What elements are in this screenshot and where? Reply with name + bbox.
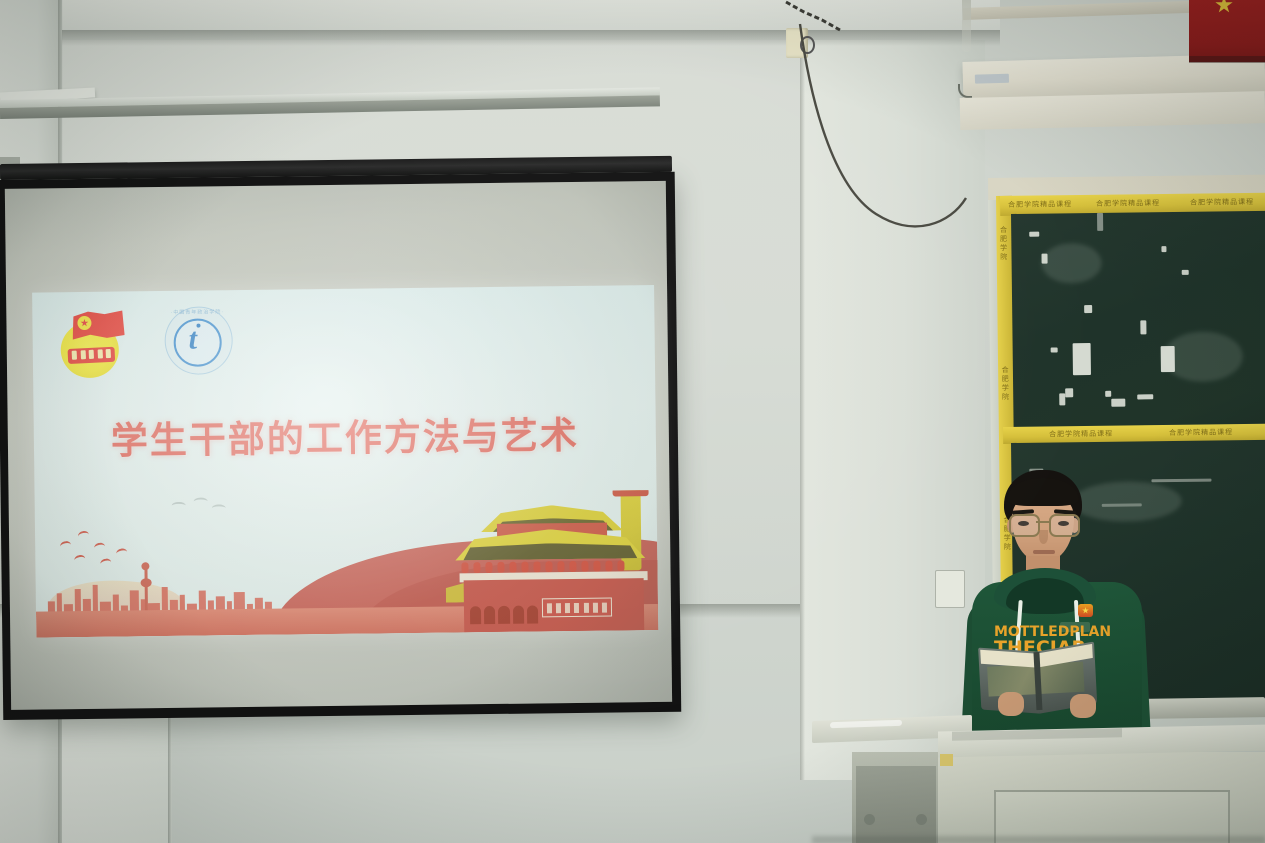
hand-left [998,692,1024,716]
lapel-pin-icon [1078,604,1093,617]
blackboard-side-rail-text: 合肥学院 [998,226,1008,262]
hanging-cable [790,18,980,268]
blackboard-mid-rail-text: 合肥学院精品课程 [1049,429,1113,440]
podium-tape-mark [940,754,953,766]
projection-screen[interactable]: ·中国青年政治学院· t 学生干部的工作方法与艺术 [0,172,681,720]
classroom-scene: ·中国青年政治学院· t 学生干部的工作方法与艺术 [0,0,1265,843]
blackboard-top-rail-text-2: 合肥学院精品课程 [1096,198,1160,209]
wall-stain [962,0,971,52]
slide-title: 学生干部的工作方法与艺术 [34,404,657,466]
flag-star-icon [1215,0,1233,14]
slide-illustration [35,490,659,638]
flag-shadow [1189,56,1265,63]
projected-slide: ·中国青年政治学院· t 学生干部的工作方法与艺术 [32,285,658,638]
valance-sticker [975,74,1009,84]
blackboard-top-rail-text-3: 合肥学院精品课程 [1190,197,1254,208]
seal-letter: t [188,325,197,355]
podium-left-cabinet-inner [856,766,936,843]
nose [1039,530,1048,544]
projection-screen-surface: ·中国青年政治学院· t 学生干部的工作方法与艺术 [5,181,672,710]
blackboard-mid-rail-text-2: 合肥学院精品课程 [1169,427,1233,438]
cabinet-knob-2[interactable] [916,814,927,825]
blackboard-side-rail-text-2: 合肥学院 [1000,366,1010,402]
tiananmen-gate-icon [444,490,656,633]
teacher-podium-desk[interactable] [812,718,1265,843]
hand-right [1070,694,1096,718]
tv-tower-icon [144,568,148,614]
university-seal-icon: ·中国青年政治学院· t [158,302,237,381]
podium-shadow [812,836,1265,843]
communist-youth-league-emblem-icon [58,307,129,380]
chinese-national-flag-icon [1189,0,1265,62]
cabinet-knob-1[interactable] [864,814,875,825]
distant-birds-icon [171,497,231,518]
mouth [1033,550,1055,554]
gate-plaque [542,598,612,618]
blackboard-top-rail-text: 合肥学院精品课程 [1008,199,1072,210]
birds-flock-icon [60,526,151,577]
